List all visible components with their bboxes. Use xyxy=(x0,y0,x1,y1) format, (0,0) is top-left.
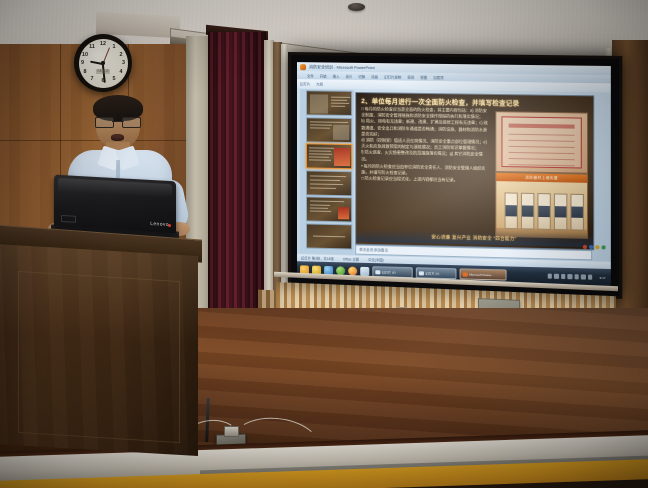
curtain-pleats xyxy=(208,32,266,322)
system-tray[interactable]: 9:17 xyxy=(547,272,611,282)
list-item[interactable]: 6 xyxy=(306,223,352,249)
podium-front-panel xyxy=(18,271,180,443)
clock-number: 5 xyxy=(110,76,119,82)
clock-number: 3 xyxy=(119,60,128,66)
wall-trim-post xyxy=(281,44,288,320)
notes-placeholder: 单击此处添加备注 xyxy=(359,247,388,252)
clock-number: 10 xyxy=(81,52,90,58)
laptop-brand-label: Lenovo xyxy=(150,221,169,228)
office-orb-icon[interactable] xyxy=(300,64,306,70)
clock-number: 7 xyxy=(88,76,97,82)
lecture-hall-photo: 12 1 2 3 4 5 6 7 8 9 10 11 SEIKO 消防安全培训 … xyxy=(0,0,648,488)
tray-icon[interactable] xyxy=(574,274,579,279)
form-heading-bar xyxy=(509,124,575,129)
ribbon-tab-review[interactable]: 审阅 xyxy=(407,74,414,79)
tray-icon[interactable] xyxy=(567,274,572,279)
ribbon-tab-view[interactable]: 视图 xyxy=(420,74,427,79)
projected-image: 消防安全培训 - Microsoft PowerPoint 文件 开始 插入 设… xyxy=(297,62,611,286)
slide-footer-text: 安心进廉 复兴产业 消防安全 "四合能力" xyxy=(431,234,516,242)
ribbon-tab-file[interactable]: 文件 xyxy=(307,73,314,78)
list-item[interactable]: 3 xyxy=(306,144,352,170)
equipment-cabinet xyxy=(554,193,567,230)
list-item[interactable]: 2 xyxy=(306,117,352,143)
clock-face: 12 1 2 3 4 5 6 7 8 9 10 11 SEIKO xyxy=(79,39,128,88)
tray-icon[interactable] xyxy=(588,275,593,280)
tray-icon[interactable] xyxy=(581,275,586,280)
clock-number: 2 xyxy=(117,52,126,58)
slide-logo-row xyxy=(583,245,606,250)
ribbon-tab-slideshow[interactable]: 幻灯片放映 xyxy=(384,74,401,79)
outlet-plug xyxy=(224,426,239,437)
tray-icon[interactable] xyxy=(561,274,566,279)
status-theme: Office 主题 xyxy=(343,256,359,261)
slide-image-fire-equipment: 消防器材上墙布置 xyxy=(495,172,588,239)
slide-bullet: b) 用火、用电有无违章；新建、改建、扩建及装修工程有无违章；c) 疏散通道、安… xyxy=(361,119,489,140)
taskbar-clock[interactable]: 9:17 xyxy=(594,273,611,282)
list-item[interactable]: 5 xyxy=(306,197,352,223)
slide-bullet: f) 防火巡查、火灾隐患整改及防范措施落实情况；g) 其它消防安全情况。 xyxy=(361,150,489,165)
slide-canvas[interactable]: 2、单位每月进行一次全面防火检查，并填写检查记录 □ 每月的防火检查应当是全面的… xyxy=(355,92,594,250)
panel-tab-outline[interactable]: 大纲 xyxy=(316,81,323,86)
slide-image-inspection-form xyxy=(495,111,588,174)
wall-clock: 12 1 2 3 4 5 6 7 8 9 10 11 SEIKO xyxy=(74,34,132,92)
equipment-cabinet xyxy=(537,193,550,230)
smoke-detector-icon xyxy=(348,3,365,11)
taskbar-window-label: 幻灯片 (F) xyxy=(425,271,439,275)
presenter-mouth xyxy=(111,134,124,141)
form-border xyxy=(501,116,581,168)
window-title-text: 消防安全培训 - Microsoft PowerPoint xyxy=(309,64,375,71)
powerpoint-workspace: 1 2 3 xyxy=(297,88,611,262)
projection-screen: 消防安全培训 - Microsoft PowerPoint 文件 开始 插入 设… xyxy=(288,52,622,299)
taskbar-window-label: Microsoft Power... xyxy=(469,272,493,277)
equipment-cabinet xyxy=(570,194,583,231)
list-item[interactable]: 4 xyxy=(306,170,352,196)
list-item[interactable]: 1 xyxy=(306,90,352,116)
ribbon-tab-addins[interactable]: 加载项 xyxy=(433,74,443,79)
ribbon-tab-animation[interactable]: 动画 xyxy=(371,74,378,79)
tray-icon[interactable] xyxy=(554,274,559,279)
ribbon-tab-insert[interactable]: 插入 xyxy=(333,73,340,78)
slide-bullet: □ 防火检查记录应当程式化，上述内容都应当有记录。 xyxy=(361,176,489,185)
ribbon-tab-home[interactable]: 开始 xyxy=(320,73,327,78)
clock-number: 4 xyxy=(117,69,126,75)
taskbar-window-button-active[interactable]: Microsoft Power... xyxy=(460,268,507,280)
clock-number: 12 xyxy=(99,41,108,47)
panel-tab-slides[interactable]: 幻灯片 xyxy=(300,81,310,86)
thinkpad-badge xyxy=(61,215,76,223)
clock-brand-label: SEIKO xyxy=(96,69,110,74)
taskbar-window-label: 幻灯片 (F) xyxy=(382,270,396,274)
ribbon-tab-transition[interactable]: 切换 xyxy=(358,73,365,78)
laptop-lid: Lenovo xyxy=(54,175,176,234)
equipment-cabinet xyxy=(505,192,518,229)
clock-pivot xyxy=(101,61,104,64)
status-slide-indicator: 幻灯片 第3张，共18张 xyxy=(301,255,334,261)
ribbon-tab-design[interactable]: 设计 xyxy=(345,73,352,78)
equipment-cabinet xyxy=(521,193,534,230)
status-language: 中文(中国) xyxy=(368,257,384,262)
clock-number: 9 xyxy=(78,60,87,66)
tray-icon[interactable] xyxy=(547,274,552,279)
slide-thumbnail-panel[interactable]: 1 2 3 xyxy=(300,89,354,254)
clock-number: 8 xyxy=(81,69,90,75)
maroon-stage-curtain xyxy=(208,32,266,322)
slide-body-text: □ 每月的防火检查应当是全面的防火检查，其主要内容包括：a) 消防安全制度、消防… xyxy=(361,106,489,184)
glasses-icon xyxy=(95,117,141,126)
clock-number: 1 xyxy=(110,44,119,50)
laptop-lid-highlight xyxy=(58,178,172,198)
image-caption-band: 消防器材上墙布置 xyxy=(496,173,587,183)
clock-number: 11 xyxy=(88,44,97,50)
thinkpad-red-dot-icon xyxy=(168,223,171,226)
